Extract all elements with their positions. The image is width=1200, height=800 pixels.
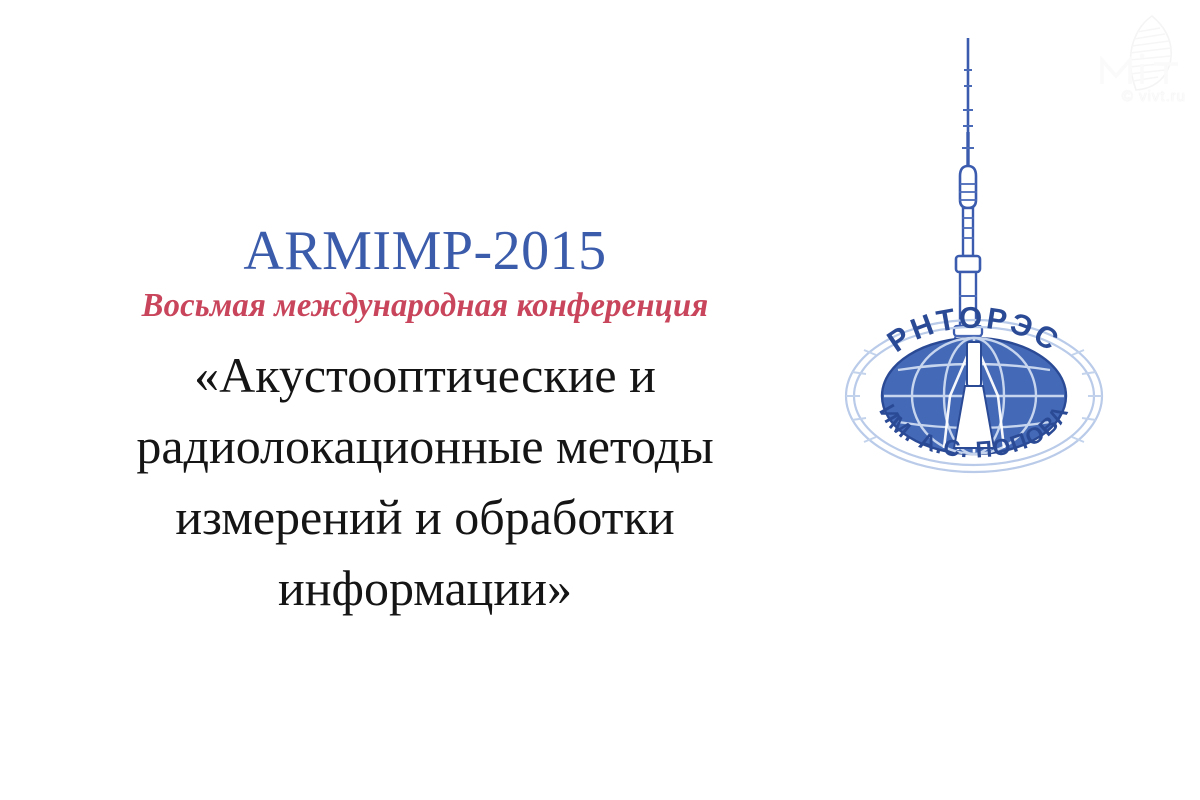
conference-code: ARMIMP-2015 xyxy=(0,222,850,281)
watermark-leaf-icon xyxy=(1129,16,1171,90)
conference-title-line-4: информации» xyxy=(28,553,822,624)
conference-title-line-3: измерений и обработки xyxy=(28,482,822,553)
conference-text-block: ARMIMP-2015 Восьмая международная конфер… xyxy=(0,222,850,624)
conference-title-line-2: радиолокационные методы xyxy=(28,411,822,482)
rntores-popov-emblem: РНТОРЭС ИМ. А.С. ПОПОВА xyxy=(838,24,1110,484)
poster-canvas: ARMIMP-2015 Восьмая международная конфер… xyxy=(0,0,1200,800)
conference-title-line-1: «Акустооптические и xyxy=(28,340,822,411)
conference-title: «Акустооптические и радиолокационные мет… xyxy=(0,340,850,624)
watermark-monogram-icon xyxy=(1102,54,1178,84)
watermark-credit: © vivt.ru xyxy=(1122,88,1186,105)
conference-edition-subtitle: Восьмая международная конференция xyxy=(17,287,833,324)
